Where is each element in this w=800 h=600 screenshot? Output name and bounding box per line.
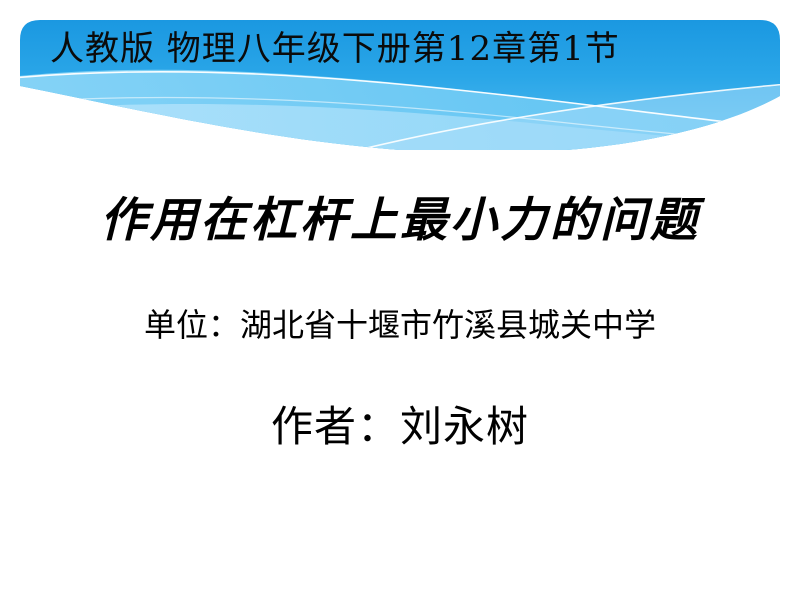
wave-wedge-right <box>300 84 800 170</box>
author-label: 作者：刘永树 <box>271 398 529 456</box>
wave-band-mid <box>0 70 800 170</box>
presentation-slide: 人教版 物理八年级下册第12章第1节 作用在杠杆上最小力的问题 单位：湖北省十堰… <box>0 0 800 600</box>
header-course-label: 人教版 物理八年级下册第12章第1节 <box>50 26 790 72</box>
slide-subtitle: 单位：湖北省十堰市竹溪县城关中学 <box>0 303 800 347</box>
page-title: 作用在杠杆上最小力的问题 <box>100 190 700 252</box>
wave-line-lower <box>0 97 800 144</box>
institution-label: 单位：湖北省十堰市竹溪县城关中学 <box>144 303 656 347</box>
slide-author: 作者：刘永树 <box>0 398 800 456</box>
banner-bottom-mask <box>0 150 800 170</box>
wave-line-crossing <box>290 82 800 168</box>
wave-band-lower <box>0 104 800 170</box>
wave-line-upper <box>0 72 800 130</box>
slide-header: 人教版 物理八年级下册第12章第1节 <box>50 26 790 78</box>
slide-title: 作用在杠杆上最小力的问题 <box>0 190 800 252</box>
